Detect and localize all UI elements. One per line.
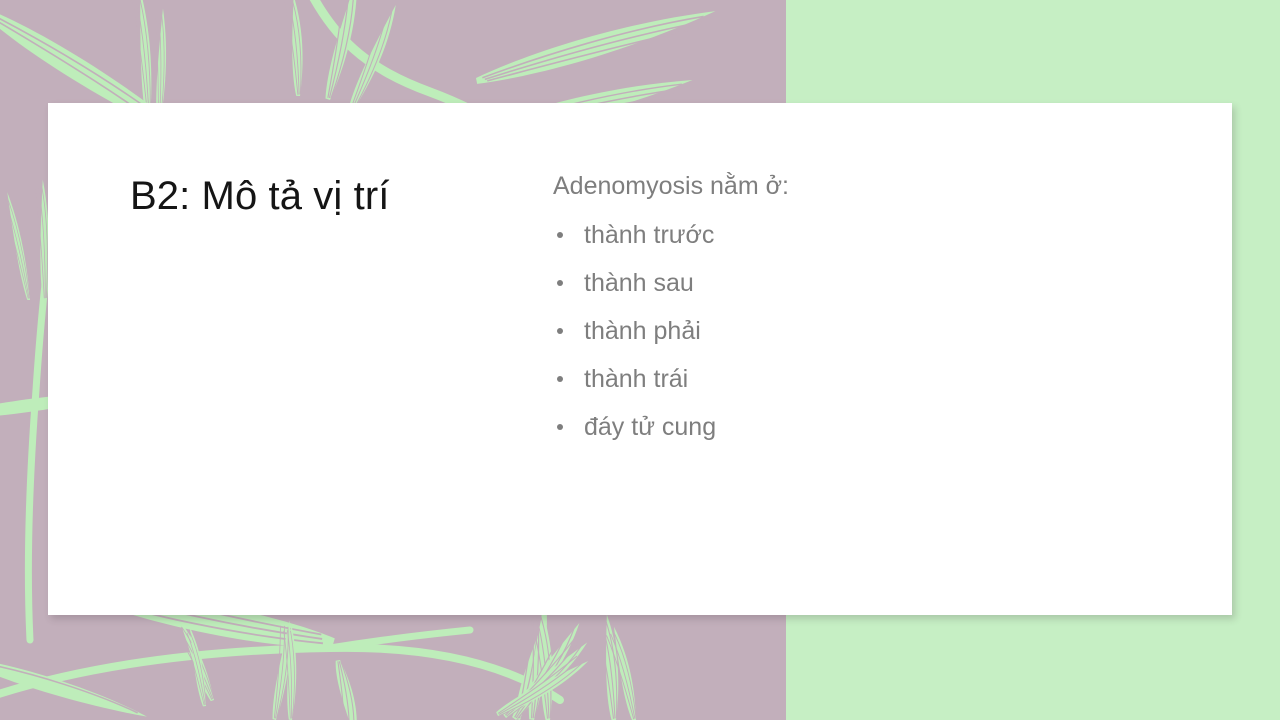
bullet-dot-icon: [557, 328, 563, 334]
list-item: thành sau: [553, 259, 1173, 307]
bullet-dot-icon: [557, 232, 563, 238]
slide-title: B2: Mô tả vị trí: [130, 173, 530, 219]
presentation-slide: B2: Mô tả vị trí Adenomyosis nằm ở: thàn…: [0, 0, 1280, 720]
list-item: thành trước: [553, 211, 1173, 259]
list-item-label: thành trước: [584, 221, 714, 249]
list-item: thành phải: [553, 307, 1173, 355]
list-item-label: thành phải: [584, 317, 701, 345]
list-item-label: đáy tử cung: [584, 413, 716, 441]
slide-content-card: B2: Mô tả vị trí Adenomyosis nằm ở: thàn…: [48, 103, 1232, 615]
bullet-dot-icon: [557, 376, 563, 382]
body-lead-text: Adenomyosis nằm ở:: [553, 171, 1173, 202]
slide-body: Adenomyosis nằm ở: thành trước thành sau…: [553, 171, 1173, 451]
list-item-label: thành sau: [584, 269, 694, 297]
list-item: đáy tử cung: [553, 403, 1173, 451]
list-item-label: thành trái: [584, 365, 688, 393]
bullet-dot-icon: [557, 280, 563, 286]
list-item: thành trái: [553, 355, 1173, 403]
bullet-dot-icon: [557, 424, 563, 430]
location-bullet-list: thành trước thành sau thành phải thành t…: [553, 211, 1173, 451]
